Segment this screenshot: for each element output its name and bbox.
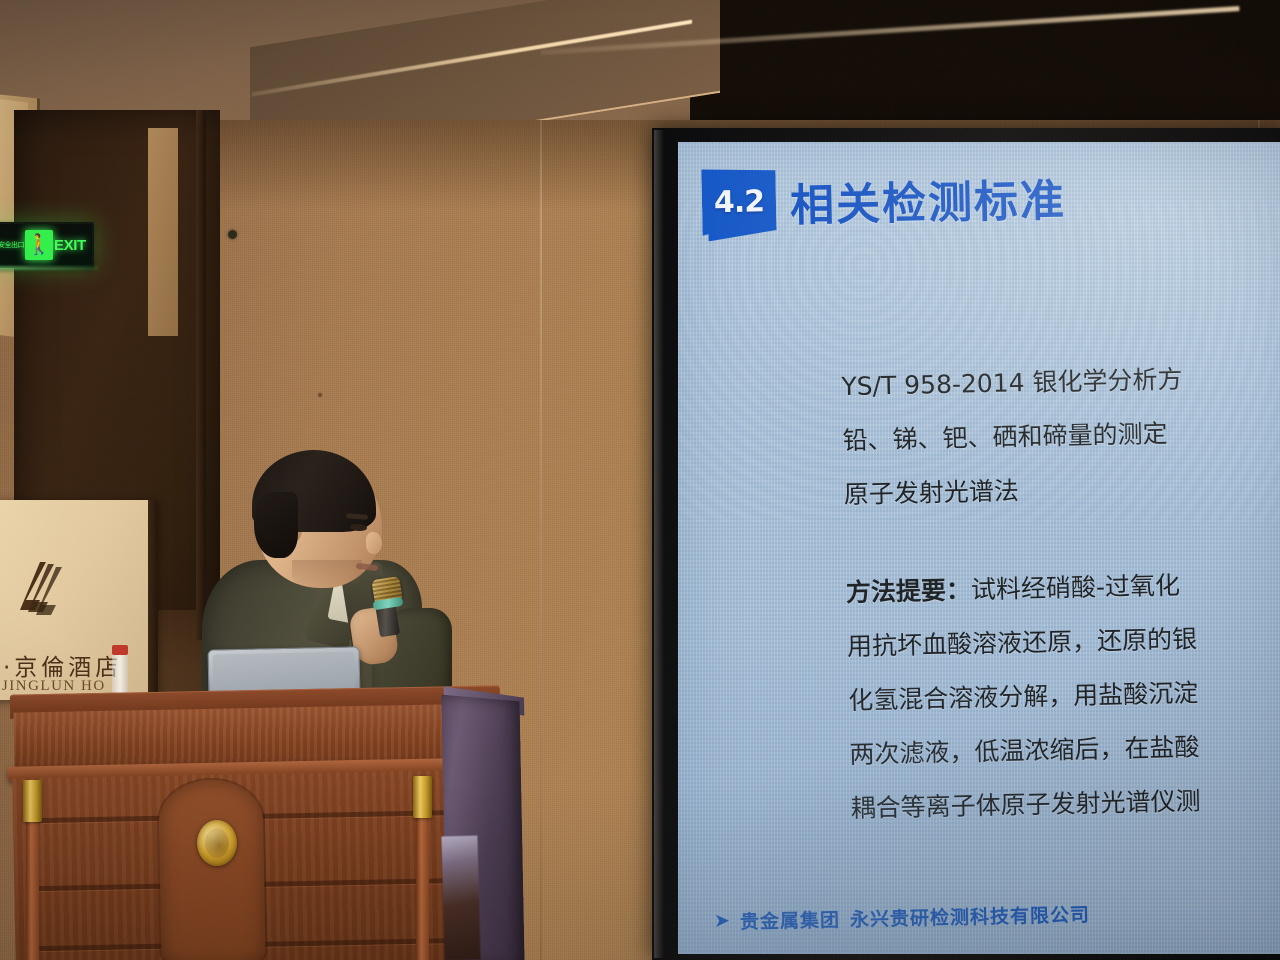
- hotel-name-chinese: 嶺·京倫酒店: [0, 648, 156, 682]
- footer-company-name: 永兴贵研检测科技有限公司: [850, 900, 1091, 932]
- standard-line-1: YS/T 958-2014 银化学分析方: [841, 348, 1280, 414]
- running-man-icon: 🚶: [25, 230, 53, 260]
- presenter-hair-side: [254, 492, 298, 558]
- slide-body: YS/T 958-2014 银化学分析方 铅、锑、钯、硒和碲量的测定 原子发射光…: [841, 348, 1280, 836]
- slide-footer: ➤ 贵金属集团 永兴贵研检测科技有限公司: [714, 900, 1090, 935]
- gold-column-cap-icon: [23, 780, 42, 822]
- method-line-5: 耦合等离子体原子发射光谱仪测: [850, 770, 1280, 836]
- slide-title-row: 4.2 相关检测标准: [701, 163, 1066, 242]
- lectern-center-oval: [158, 779, 266, 960]
- method-line-4: 两次滤液，低温浓缩后，在盐酸: [849, 716, 1280, 782]
- exit-sign-english-label: EXIT: [54, 237, 86, 254]
- method-line-1: 试料经硝酸-过氧化: [971, 571, 1181, 605]
- slide-section-badge: 4.2: [701, 168, 776, 241]
- slide-title: 相关检测标准: [789, 165, 1066, 234]
- standard-line-2: 铅、锑、钯、硒和碲量的测定: [842, 402, 1280, 468]
- exit-sign-chinese-label: 安全出口: [0, 240, 24, 250]
- method-summary-label: 方法提要：: [846, 575, 972, 607]
- jacket-button: [228, 230, 237, 239]
- conference-room-photo: 安全出口 🚶 EXIT 嶺·京倫酒店 ND JINGLUN HO: [0, 0, 1280, 960]
- presenter-nose: [366, 532, 382, 554]
- gold-column-cap-icon: [413, 776, 432, 818]
- method-summary-line: 方法提要：试料经硝酸-过氧化: [845, 554, 1280, 620]
- hotel-signage-board: 嶺·京倫酒店 ND JINGLUN HO: [0, 500, 156, 700]
- chevron-right-icon: ➤: [714, 912, 730, 931]
- jaw-shadow: [292, 560, 362, 590]
- chevron-feather-logo: [10, 560, 68, 622]
- water-bottle-cap: [112, 645, 128, 655]
- hotel-sign-edge: [148, 500, 158, 700]
- door-inset-strip: [148, 128, 178, 336]
- gold-medallion-icon: [197, 820, 237, 866]
- wall-mark: [318, 393, 322, 397]
- projection-screen-assembly: 4.2 相关检测标准 YS/T 958-2014 银化学分析方 铅、锑、钯、硒和…: [652, 128, 1280, 960]
- method-line-2: 用抗坏血酸溶液还原，还原的银: [847, 608, 1280, 674]
- standard-line-3: 原子发射光谱法: [843, 456, 1280, 522]
- method-line-3: 化氢混合溶液分解，用盐酸沉淀: [848, 662, 1280, 728]
- projected-slide: 4.2 相关检测标准 YS/T 958-2014 银化学分析方 铅、锑、钯、硒和…: [678, 142, 1280, 954]
- footer-group-name: 贵金属集团: [740, 905, 841, 934]
- screen-bezel-highlight: [654, 130, 664, 958]
- exit-sign-glow: [0, 266, 98, 270]
- wall-seam: [540, 120, 542, 960]
- lectern-edge-reflection: [441, 836, 480, 960]
- slide-section-number: 4.2: [714, 184, 765, 220]
- exit-sign: 安全出口 🚶 EXIT: [0, 222, 94, 268]
